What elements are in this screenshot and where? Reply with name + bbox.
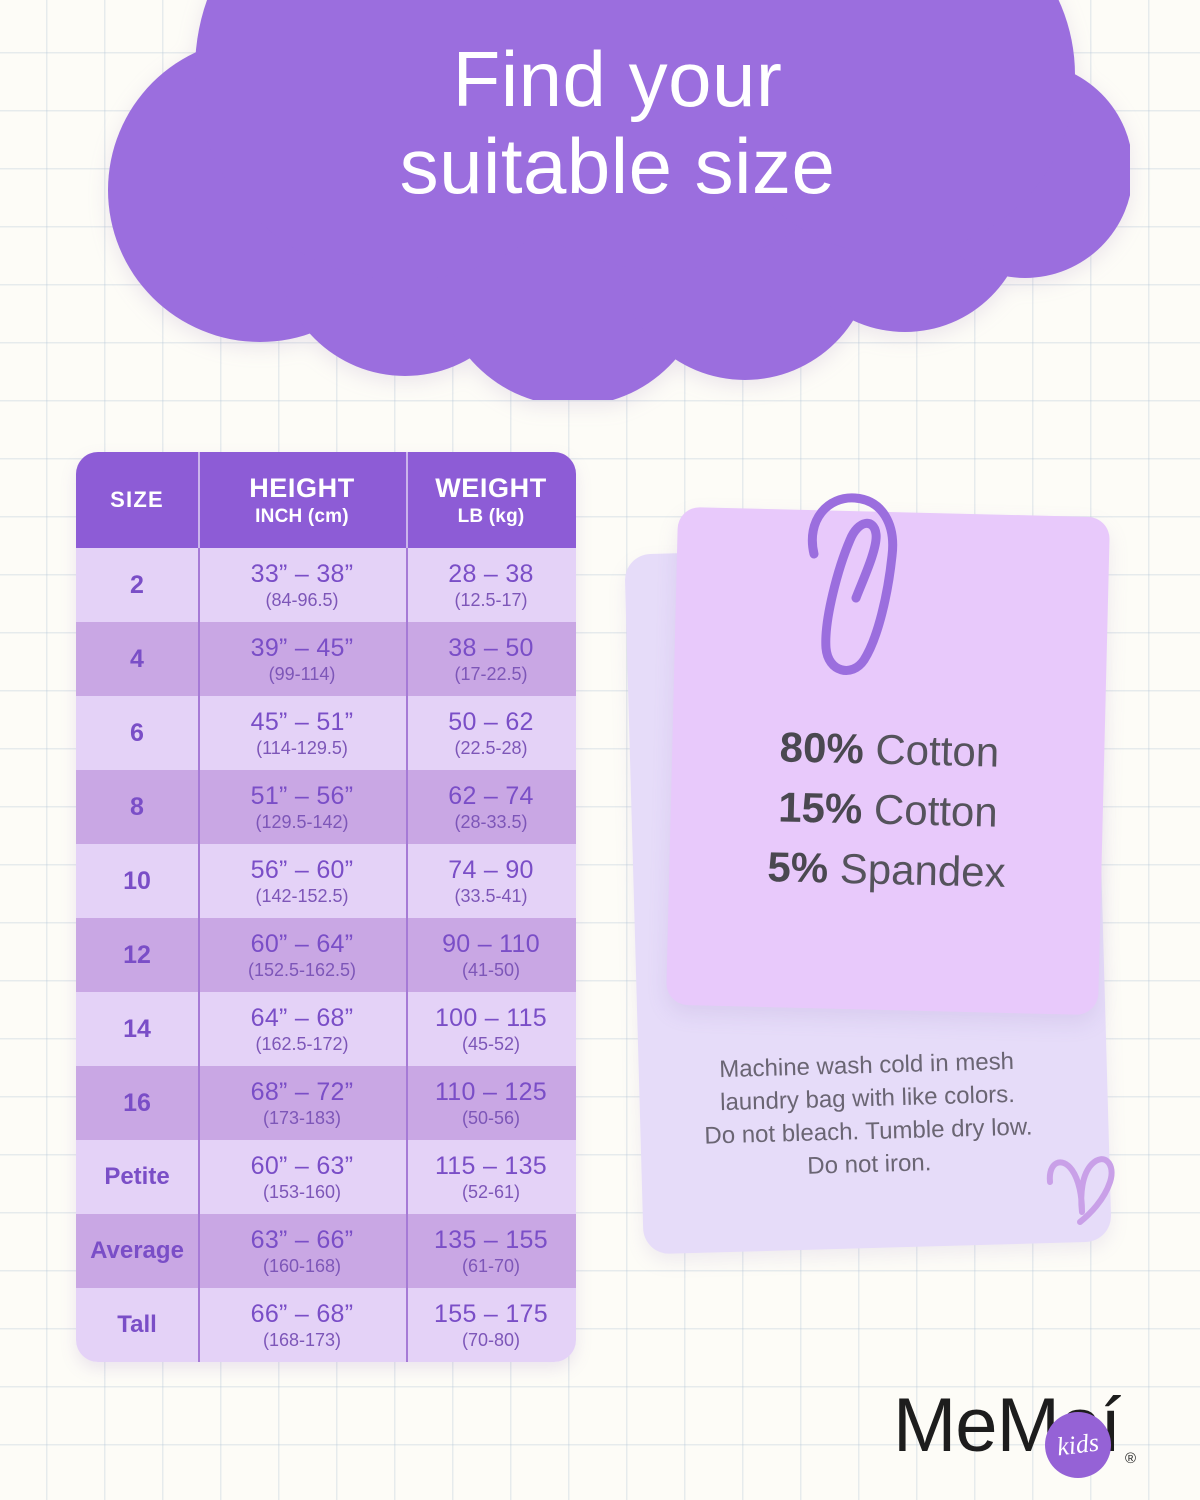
size-value: 6	[130, 719, 144, 748]
cell-height: 45” – 51”(114-129.5)	[198, 696, 406, 770]
paperclip-icon	[800, 486, 910, 676]
cell-weight: 110 – 125(50-56)	[406, 1066, 576, 1140]
weight-lb: 100 – 115	[435, 1004, 547, 1033]
kids-badge: kids	[1045, 1412, 1111, 1478]
cell-height: 64” – 68”(162.5-172)	[198, 992, 406, 1066]
table-row: Average 63” – 66”(160-168) 135 – 155(61-…	[76, 1214, 576, 1288]
weight-kg: (70-80)	[462, 1330, 520, 1351]
column-header-height-label: HEIGHT	[249, 473, 355, 504]
size-value: 4	[130, 645, 144, 674]
size-chart-table: SIZE HEIGHT INCH (cm) WEIGHT LB (kg) 2 3…	[76, 452, 576, 1362]
size-value: 8	[130, 793, 144, 822]
weight-kg: (22.5-28)	[454, 738, 527, 759]
table-row: 12 60” – 64”(152.5-162.5) 90 – 110(41-50…	[76, 918, 576, 992]
size-value: Tall	[117, 1311, 157, 1339]
cell-size: 8	[76, 770, 198, 844]
weight-lb: 38 – 50	[448, 634, 534, 663]
cell-size: Petite	[76, 1140, 198, 1214]
table-row: 8 51” – 56”(129.5-142) 62 – 74(28-33.5)	[76, 770, 576, 844]
height-cm: (114-129.5)	[256, 738, 348, 759]
cell-size: 16	[76, 1066, 198, 1140]
heart-doodle-icon	[1046, 1152, 1118, 1234]
composition-material: Cotton	[873, 786, 998, 836]
height-inches: 68” – 72”	[251, 1078, 354, 1107]
table-row: Petite 60” – 63”(153-160) 115 – 135(52-6…	[76, 1140, 576, 1214]
cell-height: 68” – 72”(173-183)	[198, 1066, 406, 1140]
cell-height: 60” – 63”(153-160)	[198, 1140, 406, 1214]
composition-line: 15% Cotton	[671, 775, 1104, 846]
cell-height: 60” – 64”(152.5-162.5)	[198, 918, 406, 992]
height-inches: 63” – 66”	[251, 1226, 354, 1255]
cell-height: 51” – 56”(129.5-142)	[198, 770, 406, 844]
cell-size: 14	[76, 992, 198, 1066]
size-value: 10	[123, 867, 151, 896]
cell-weight: 100 – 115(45-52)	[406, 992, 576, 1066]
weight-kg: (17-22.5)	[454, 664, 527, 685]
table-row: 14 64” – 68”(162.5-172) 100 – 115(45-52)	[76, 992, 576, 1066]
height-cm: (142-152.5)	[255, 886, 348, 907]
height-inches: 39” – 45”	[251, 634, 354, 663]
column-header-height-unit: INCH (cm)	[255, 506, 349, 528]
weight-lb: 135 – 155	[434, 1226, 548, 1255]
weight-kg: (28-33.5)	[454, 812, 527, 833]
weight-lb: 50 – 62	[448, 708, 534, 737]
cell-size: Average	[76, 1214, 198, 1288]
cell-weight: 62 – 74(28-33.5)	[406, 770, 576, 844]
table-header-row: SIZE HEIGHT INCH (cm) WEIGHT LB (kg)	[76, 452, 576, 548]
cell-weight: 28 – 38(12.5-17)	[406, 548, 576, 622]
cell-size: 6	[76, 696, 198, 770]
cell-size: 10	[76, 844, 198, 918]
weight-lb: 90 – 110	[442, 930, 540, 959]
weight-kg: (41-50)	[462, 960, 520, 981]
cell-weight: 135 – 155(61-70)	[406, 1214, 576, 1288]
composition-percent: 15%	[778, 783, 863, 832]
weight-kg: (61-70)	[462, 1256, 520, 1277]
size-value: 16	[123, 1089, 151, 1118]
cell-height: 63” – 66”(160-168)	[198, 1214, 406, 1288]
cell-size: Tall	[76, 1288, 198, 1362]
brand-logo: MeMoí kids ®	[893, 1388, 1143, 1474]
table-row: Tall 66” – 68”(168-173) 155 – 175(70-80)	[76, 1288, 576, 1362]
cell-size: 2	[76, 548, 198, 622]
column-header-weight-label: WEIGHT	[435, 473, 547, 504]
column-header-weight: WEIGHT LB (kg)	[406, 452, 576, 548]
column-header-height: HEIGHT INCH (cm)	[198, 452, 406, 548]
kids-badge-label: kids	[1055, 1428, 1100, 1463]
page-title: Find your suitable size	[105, 36, 1130, 211]
height-cm: (129.5-142)	[255, 812, 348, 833]
height-inches: 60” – 64”	[251, 930, 354, 959]
table-row: 4 39” – 45”(99-114) 38 – 50(17-22.5)	[76, 622, 576, 696]
table-row: 6 45” – 51”(114-129.5) 50 – 62(22.5-28)	[76, 696, 576, 770]
cell-size: 12	[76, 918, 198, 992]
cell-weight: 38 – 50(17-22.5)	[406, 622, 576, 696]
composition-percent: 80%	[779, 723, 864, 772]
height-cm: (99-114)	[269, 664, 336, 685]
size-value: Petite	[104, 1163, 169, 1191]
weight-lb: 110 – 125	[435, 1078, 547, 1107]
height-cm: (153-160)	[263, 1182, 341, 1203]
size-value: Average	[90, 1237, 184, 1265]
cell-weight: 155 – 175(70-80)	[406, 1288, 576, 1362]
size-value: 2	[130, 571, 144, 600]
cell-height: 33” – 38”(84-96.5)	[198, 548, 406, 622]
cell-weight: 50 – 62(22.5-28)	[406, 696, 576, 770]
weight-lb: 74 – 90	[448, 856, 534, 885]
cell-height: 39” – 45”(99-114)	[198, 622, 406, 696]
height-inches: 33” – 38”	[251, 560, 354, 589]
height-cm: (160-168)	[263, 1256, 341, 1277]
weight-kg: (52-61)	[462, 1182, 520, 1203]
column-header-size-label: SIZE	[110, 487, 164, 513]
weight-kg: (50-56)	[462, 1108, 520, 1129]
height-inches: 56” – 60”	[251, 856, 354, 885]
weight-kg: (12.5-17)	[454, 590, 527, 611]
weight-lb: 62 – 74	[448, 782, 534, 811]
cell-height: 66” – 68”(168-173)	[198, 1288, 406, 1362]
cell-weight: 74 – 90(33.5-41)	[406, 844, 576, 918]
table-row: 2 33” – 38”(84-96.5) 28 – 38(12.5-17)	[76, 548, 576, 622]
height-inches: 51” – 56”	[251, 782, 354, 811]
composition-line: 80% Cotton	[673, 715, 1106, 786]
fabric-composition: 80% Cotton 15% Cotton 5% Spandex	[670, 715, 1106, 906]
weight-kg: (33.5-41)	[454, 886, 527, 907]
table-row: 10 56” – 60”(142-152.5) 74 – 90(33.5-41)	[76, 844, 576, 918]
size-value: 12	[123, 941, 151, 970]
weight-lb: 28 – 38	[448, 560, 534, 589]
composition-line: 5% Spandex	[670, 835, 1103, 906]
height-inches: 60” – 63”	[251, 1152, 354, 1181]
weight-lb: 115 – 135	[435, 1152, 547, 1181]
height-cm: (162.5-172)	[255, 1034, 348, 1055]
height-cm: (168-173)	[263, 1330, 341, 1351]
height-cm: (152.5-162.5)	[248, 960, 356, 981]
column-header-weight-unit: LB (kg)	[458, 506, 525, 528]
weight-kg: (45-52)	[462, 1034, 520, 1055]
height-cm: (84-96.5)	[265, 590, 338, 611]
cell-weight: 90 – 110(41-50)	[406, 918, 576, 992]
care-instructions: Machine wash cold in mesh laundry bag wi…	[646, 1044, 1090, 1188]
size-value: 14	[123, 1015, 151, 1044]
weight-lb: 155 – 175	[434, 1300, 548, 1329]
height-inches: 66” – 68”	[251, 1300, 354, 1329]
cell-size: 4	[76, 622, 198, 696]
cell-height: 56” – 60”(142-152.5)	[198, 844, 406, 918]
composition-material: Spandex	[839, 845, 1006, 896]
composition-percent: 5%	[767, 843, 829, 891]
composition-material: Cotton	[875, 726, 1000, 776]
registered-trademark-symbol: ®	[1125, 1450, 1136, 1467]
table-row: 16 68” – 72”(173-183) 110 – 125(50-56)	[76, 1066, 576, 1140]
column-header-size: SIZE	[76, 452, 198, 548]
height-inches: 64” – 68”	[251, 1004, 354, 1033]
height-inches: 45” – 51”	[251, 708, 354, 737]
cell-weight: 115 – 135(52-61)	[406, 1140, 576, 1214]
height-cm: (173-183)	[263, 1108, 341, 1129]
